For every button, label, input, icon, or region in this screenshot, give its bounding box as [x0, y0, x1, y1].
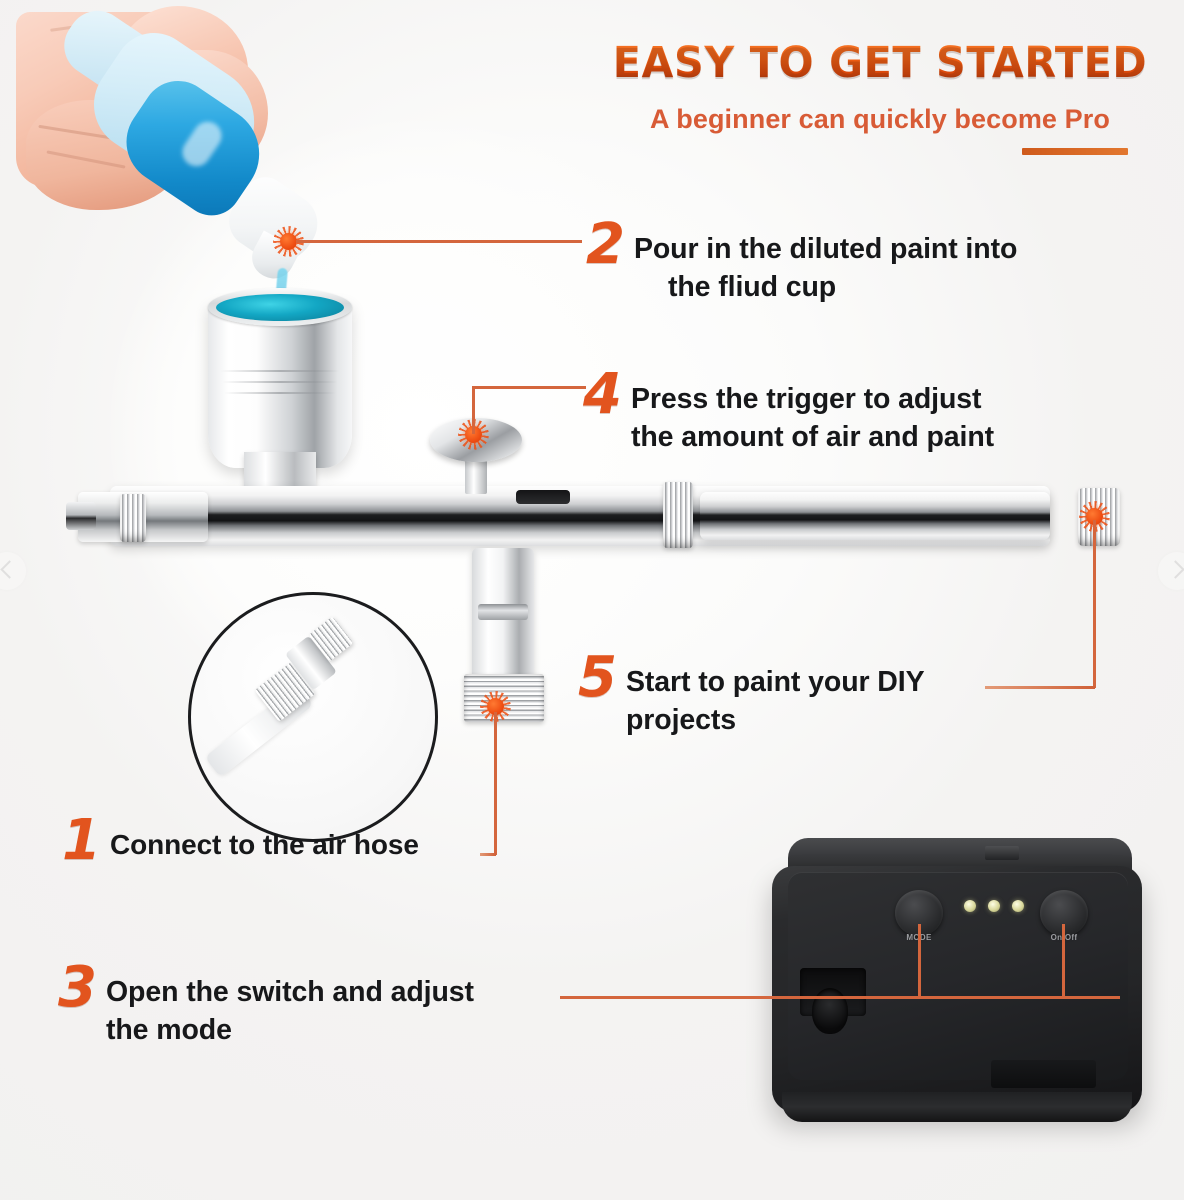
step-3: 3 Open the switch and adjust the mode	[58, 965, 474, 1049]
step-4: 4 Press the trigger to adjust the amount…	[583, 372, 994, 456]
step-1-text: Connect to the air hose	[110, 818, 419, 864]
callout-line-step-3-to-power	[1062, 924, 1065, 998]
airbrush-mid-ring	[663, 482, 693, 548]
callout-dot-step-2	[280, 233, 297, 250]
carousel-prev-button[interactable]	[0, 552, 26, 590]
callout-line-step-1-vertical	[494, 712, 497, 855]
step-5: 5 Start to paint your DIY projects	[578, 655, 925, 739]
callout-line-step-5-horizontal	[985, 686, 1095, 689]
step-4-line-1: Press the trigger to adjust	[631, 381, 994, 419]
callout-line-step-1-horizontal	[480, 853, 496, 856]
step-2-line-1: Pour in the diluted paint into	[634, 231, 1017, 269]
chevron-left-icon	[0, 560, 18, 578]
infographic-canvas: EASY TO GET STARTED A beginner can quick…	[0, 0, 1184, 1200]
step-4-number: 4	[583, 372, 622, 418]
chevron-right-icon	[1166, 560, 1184, 578]
step-2-line-2: the fliud cup	[668, 269, 1017, 307]
callout-line-step-4-horizontal	[472, 386, 586, 389]
compressor-led-1	[964, 900, 976, 912]
callout-line-step-3-to-mode	[918, 924, 921, 998]
step-3-line-2: the mode	[106, 1012, 474, 1050]
callout-line-step-3-horizontal	[560, 996, 1120, 999]
title-underline-rule	[1022, 148, 1128, 155]
paint-cup-fluid	[216, 294, 344, 321]
callout-line-step-5-vertical	[1093, 520, 1096, 688]
air-hose-coupler-inset	[188, 592, 438, 842]
page-subtitle: A beginner can quickly become Pro	[600, 104, 1160, 135]
compressor-led-3	[1012, 900, 1024, 912]
step-3-text: Open the switch and adjust the mode	[106, 965, 474, 1049]
carousel-next-button[interactable]	[1158, 552, 1184, 590]
callout-line-step-4-vertical	[472, 386, 475, 434]
step-4-line-2: the amount of air and paint	[631, 419, 994, 457]
step-2: 2 Pour in the diluted paint into the fli…	[586, 222, 1017, 306]
step-5-text: Start to paint your DIY projects	[626, 655, 925, 739]
step-3-line-1: Open the switch and adjust	[106, 974, 474, 1012]
airbrush-rear-taper	[700, 492, 1050, 540]
step-3-number: 3	[58, 965, 97, 1011]
step-5-line-1: Start to paint your DIY	[626, 664, 925, 702]
compressor-led-2	[988, 900, 1000, 912]
step-1: 1 Connect to the air hose	[62, 818, 419, 864]
callout-line-step-2	[296, 240, 582, 243]
step-2-text: Pour in the diluted paint into the fliud…	[634, 222, 1017, 306]
compressor-air-outlet[interactable]	[812, 988, 848, 1034]
page-title: EASY TO GET STARTED	[611, 38, 1149, 88]
airbrush-front-ring	[120, 494, 146, 542]
step-2-number: 2	[586, 222, 625, 268]
compressor-dc-port	[985, 846, 1019, 860]
step-5-line-2: projects	[626, 702, 925, 740]
step-4-text: Press the trigger to adjust the amount o…	[631, 372, 994, 456]
compressor-label-strip	[991, 1060, 1096, 1088]
step-1-number: 1	[62, 818, 101, 864]
step-5-number: 5	[578, 655, 617, 701]
